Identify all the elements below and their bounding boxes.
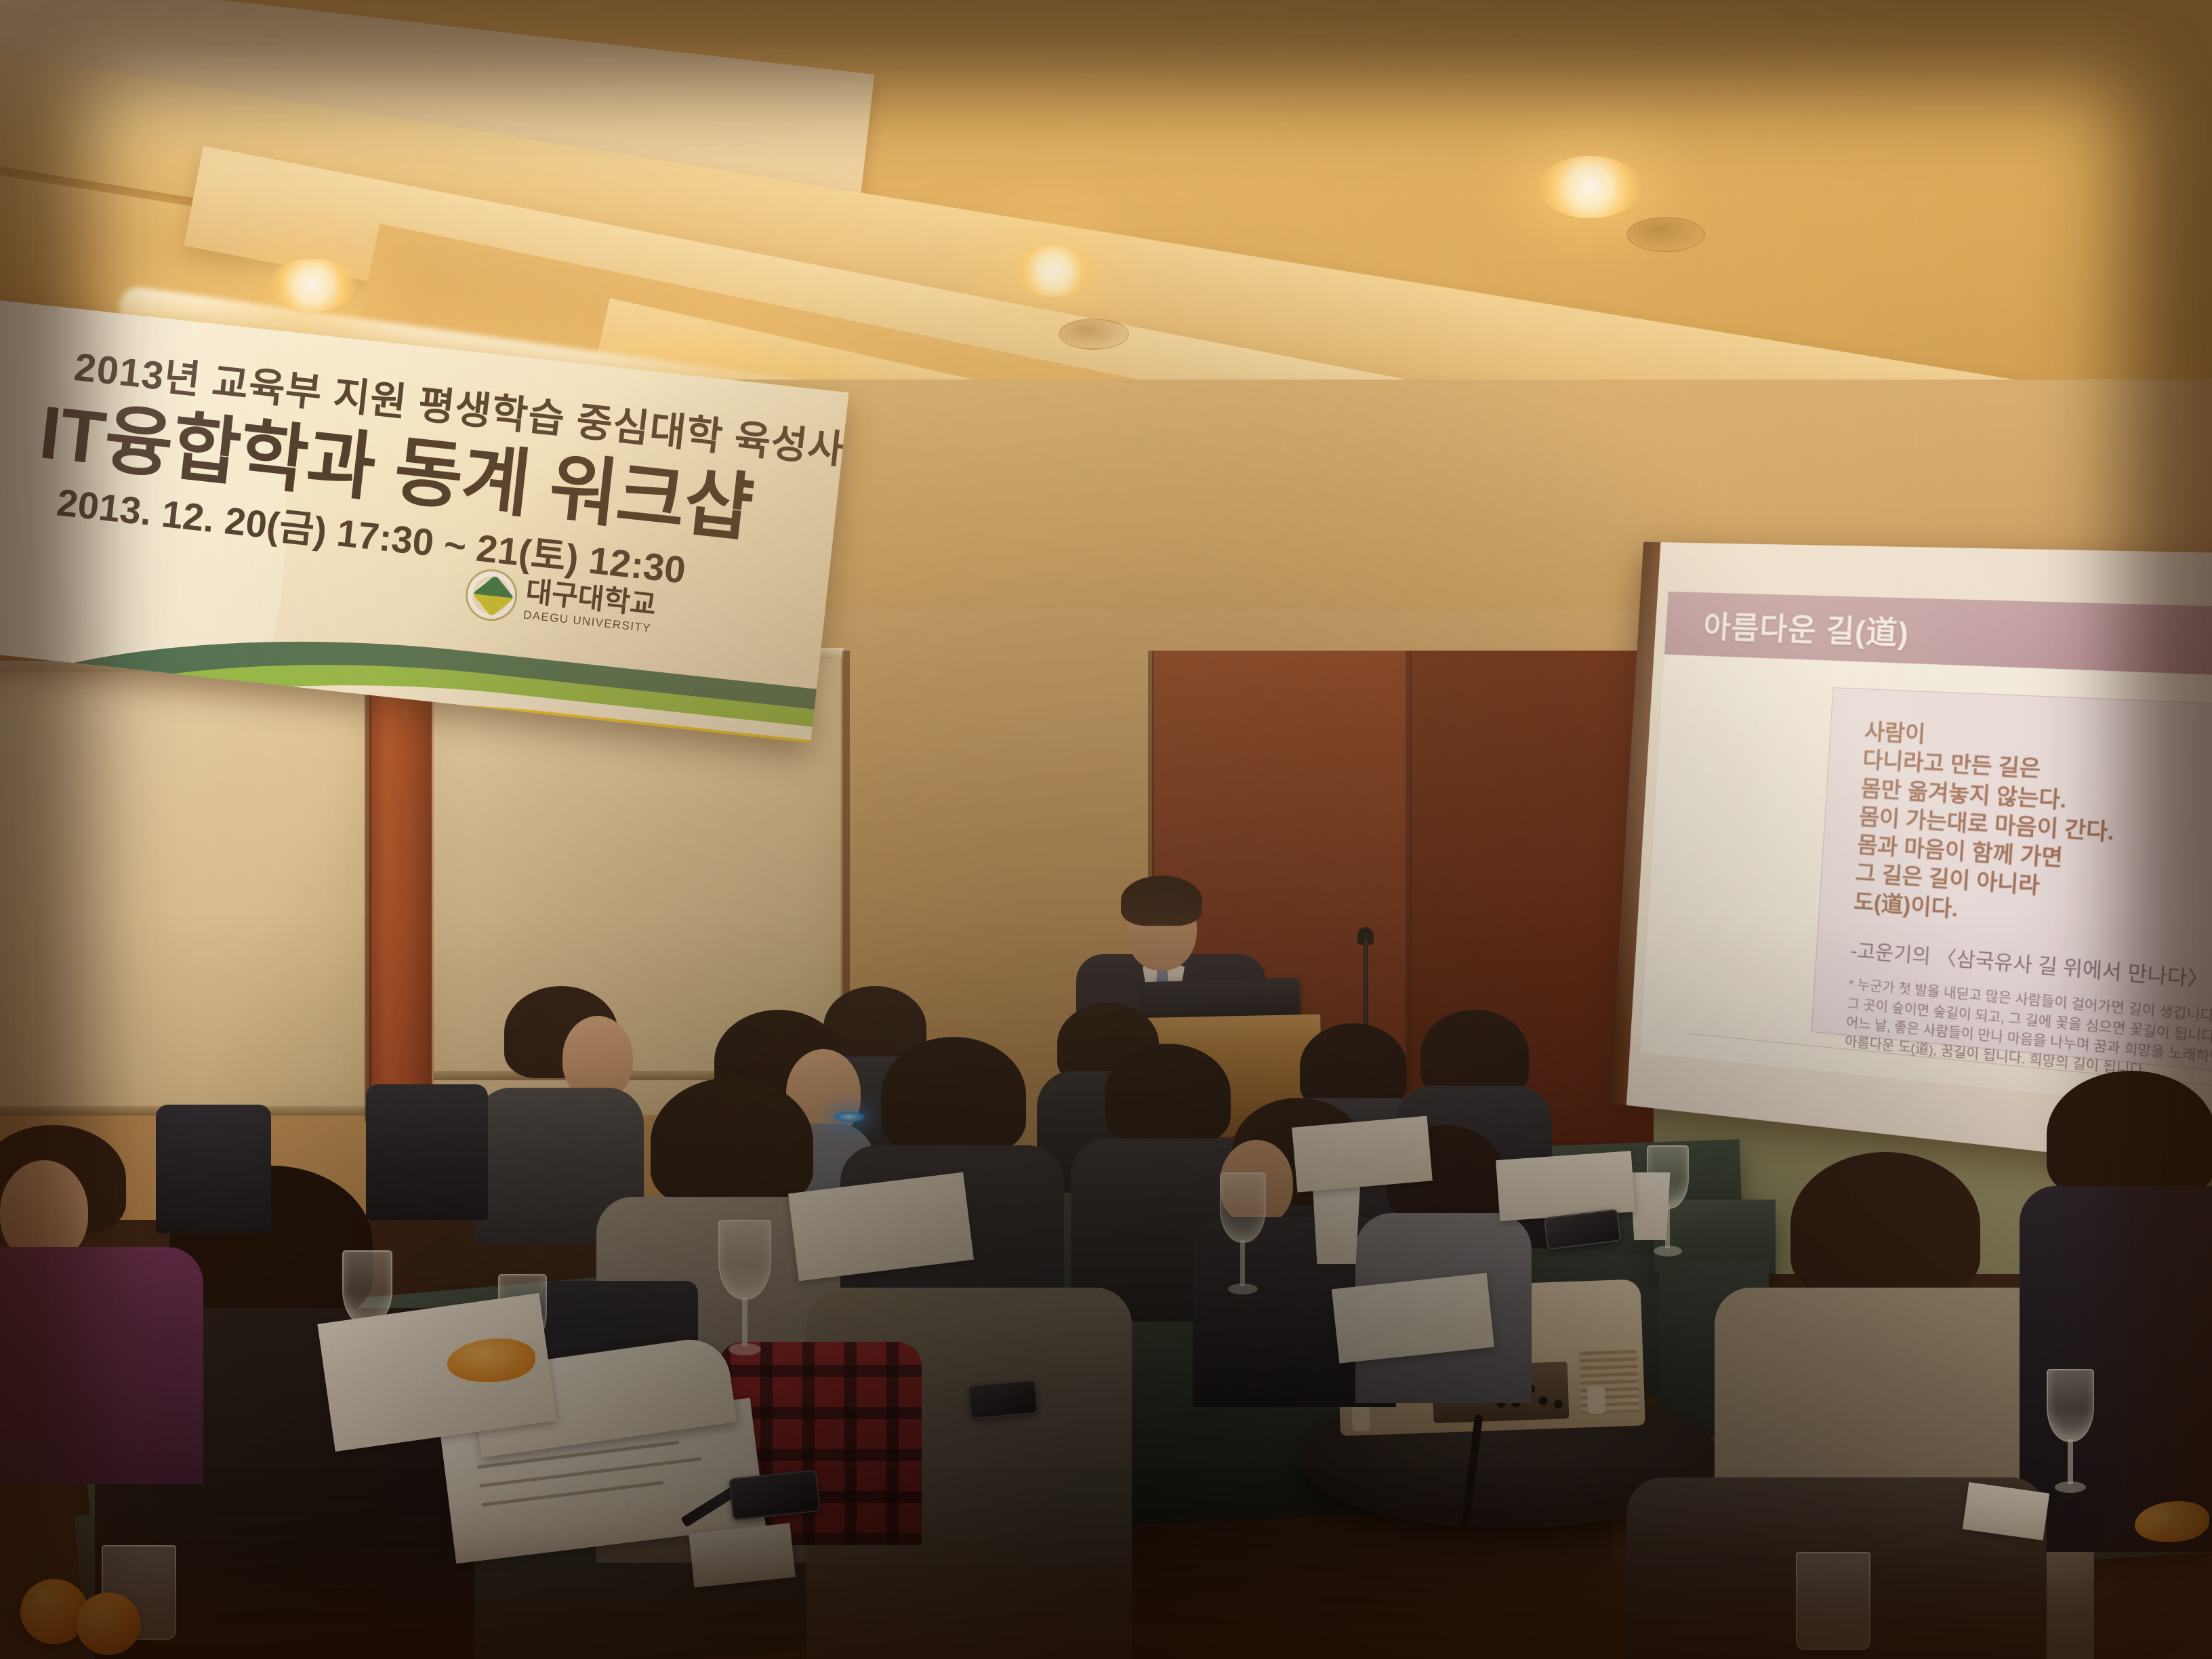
photo-scene: 2013년 교육부 지원 평생학습 중심대학 육성사업 IT융합학과 동계 워크… bbox=[0, 0, 2212, 1659]
downlight-3 bbox=[1538, 156, 1641, 218]
ceiling-speaker-2 bbox=[1059, 319, 1129, 350]
slide-title: 아름다운 길(道) bbox=[1702, 602, 1911, 654]
person-hair bbox=[1790, 1152, 1980, 1298]
wine-glass[interactable] bbox=[1220, 1172, 1266, 1308]
slide-poem-box: 사람이 다니라고 만든 길은 몸만 옮겨놓지 않는다. 몸이 가는대로 마음이 … bbox=[1811, 687, 2212, 1079]
logo-text-group: 대구대학교 DAEGU UNIVERSITY bbox=[523, 577, 657, 634]
downlight-2 bbox=[1013, 245, 1094, 297]
booklet-text-line bbox=[482, 1481, 664, 1507]
daegu-university-emblem-icon bbox=[463, 567, 520, 623]
person-torso bbox=[0, 1247, 203, 1484]
paper-cup[interactable] bbox=[1308, 1183, 1365, 1264]
projector-foot-left bbox=[1352, 1404, 1370, 1431]
glass-foot bbox=[1654, 1246, 1682, 1256]
slide-title-bar: 아름다운 길(道) bbox=[1664, 592, 2212, 678]
slide-surface: 아름다운 길(道) 사람이 다니라고 만든 길은 몸만 옮겨놓지 않는다. 몸이… bbox=[1640, 592, 2212, 1118]
roller-blind-left bbox=[0, 668, 366, 1115]
wood-column-1 bbox=[369, 647, 432, 1122]
wine-glass[interactable] bbox=[2047, 1369, 2094, 1504]
wine-glass[interactable] bbox=[718, 1220, 771, 1369]
water-tumbler[interactable] bbox=[1796, 1552, 1870, 1650]
downlight-1 bbox=[268, 259, 356, 312]
glass-stem bbox=[1240, 1240, 1245, 1286]
glass-bowl bbox=[2047, 1369, 2094, 1442]
chair bbox=[366, 1084, 488, 1220]
projector-foot-right bbox=[1587, 1386, 1605, 1414]
napkin[interactable] bbox=[689, 1523, 796, 1587]
handout-paper[interactable] bbox=[1292, 1115, 1433, 1192]
presenter-hair bbox=[1121, 876, 1202, 926]
person-hair bbox=[881, 1037, 1026, 1153]
tangerine[interactable] bbox=[76, 1593, 141, 1655]
equipment-status-led bbox=[834, 1111, 865, 1122]
wall-seam-1 bbox=[365, 647, 371, 1122]
projector-port bbox=[1538, 1396, 1547, 1405]
chair bbox=[156, 1105, 271, 1233]
glass-foot bbox=[2055, 1481, 2086, 1493]
glass-bowl bbox=[1220, 1172, 1266, 1243]
person-hair bbox=[2047, 1071, 2212, 1200]
glass-bowl bbox=[718, 1220, 771, 1300]
glass-stem bbox=[742, 1297, 747, 1346]
ceiling-speaker-1 bbox=[1626, 217, 1705, 252]
person-hair bbox=[651, 1078, 813, 1206]
glass-foot bbox=[729, 1343, 761, 1355]
person-hair bbox=[1420, 1010, 1529, 1098]
glass-foot bbox=[1228, 1284, 1258, 1294]
smartphone[interactable] bbox=[968, 1380, 1038, 1420]
projector-port bbox=[1553, 1400, 1562, 1409]
glass-stem bbox=[2068, 1439, 2073, 1484]
person-hair bbox=[1300, 1023, 1407, 1110]
